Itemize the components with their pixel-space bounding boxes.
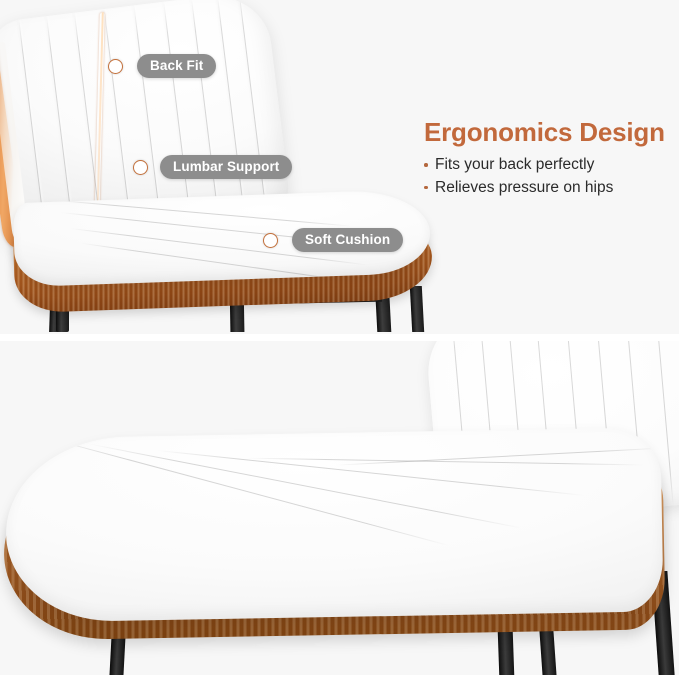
callout-marker-icon xyxy=(133,160,148,175)
bullet-item: Fits your back perfectly xyxy=(424,154,674,177)
chair-seat xyxy=(4,433,672,649)
comfort-panel: Comfortable & Soft PU leather material I… xyxy=(0,341,679,675)
bullet-text: Fits your back perfectly xyxy=(435,156,594,173)
callout-connector xyxy=(148,166,160,168)
callout-soft-cushion[interactable]: Soft Cushion xyxy=(263,228,403,252)
ergonomics-headline: Ergonomics Design xyxy=(424,118,674,147)
product-feature-image: Back Fit Lumbar Support Soft Cushion Erg… xyxy=(0,0,679,675)
callout-marker-icon xyxy=(263,233,278,248)
bullet-item: Relieves pressure on hips xyxy=(424,177,674,200)
chair-illustration-bottom xyxy=(0,341,679,675)
callout-marker-icon xyxy=(108,59,123,74)
ergonomics-panel: Back Fit Lumbar Support Soft Cushion Erg… xyxy=(0,0,679,334)
ergonomics-bullet-list: Fits your back perfectly Relieves pressu… xyxy=(424,154,674,200)
bullet-dot-icon xyxy=(424,163,428,167)
panel-divider xyxy=(0,334,679,341)
bullet-text: Relieves pressure on hips xyxy=(435,179,613,196)
bullet-dot-icon xyxy=(424,186,428,190)
callout-connector xyxy=(278,239,292,241)
callout-back-fit[interactable]: Back Fit xyxy=(108,54,216,78)
callout-connector xyxy=(123,65,137,67)
ergonomics-text-block: Ergonomics Design Fits your back perfect… xyxy=(424,118,674,200)
callout-lumbar-support[interactable]: Lumbar Support xyxy=(133,155,292,179)
callout-label: Soft Cushion xyxy=(292,228,403,252)
callout-label: Lumbar Support xyxy=(160,155,292,179)
callout-label: Back Fit xyxy=(137,54,216,78)
seat-cushion xyxy=(4,427,663,622)
